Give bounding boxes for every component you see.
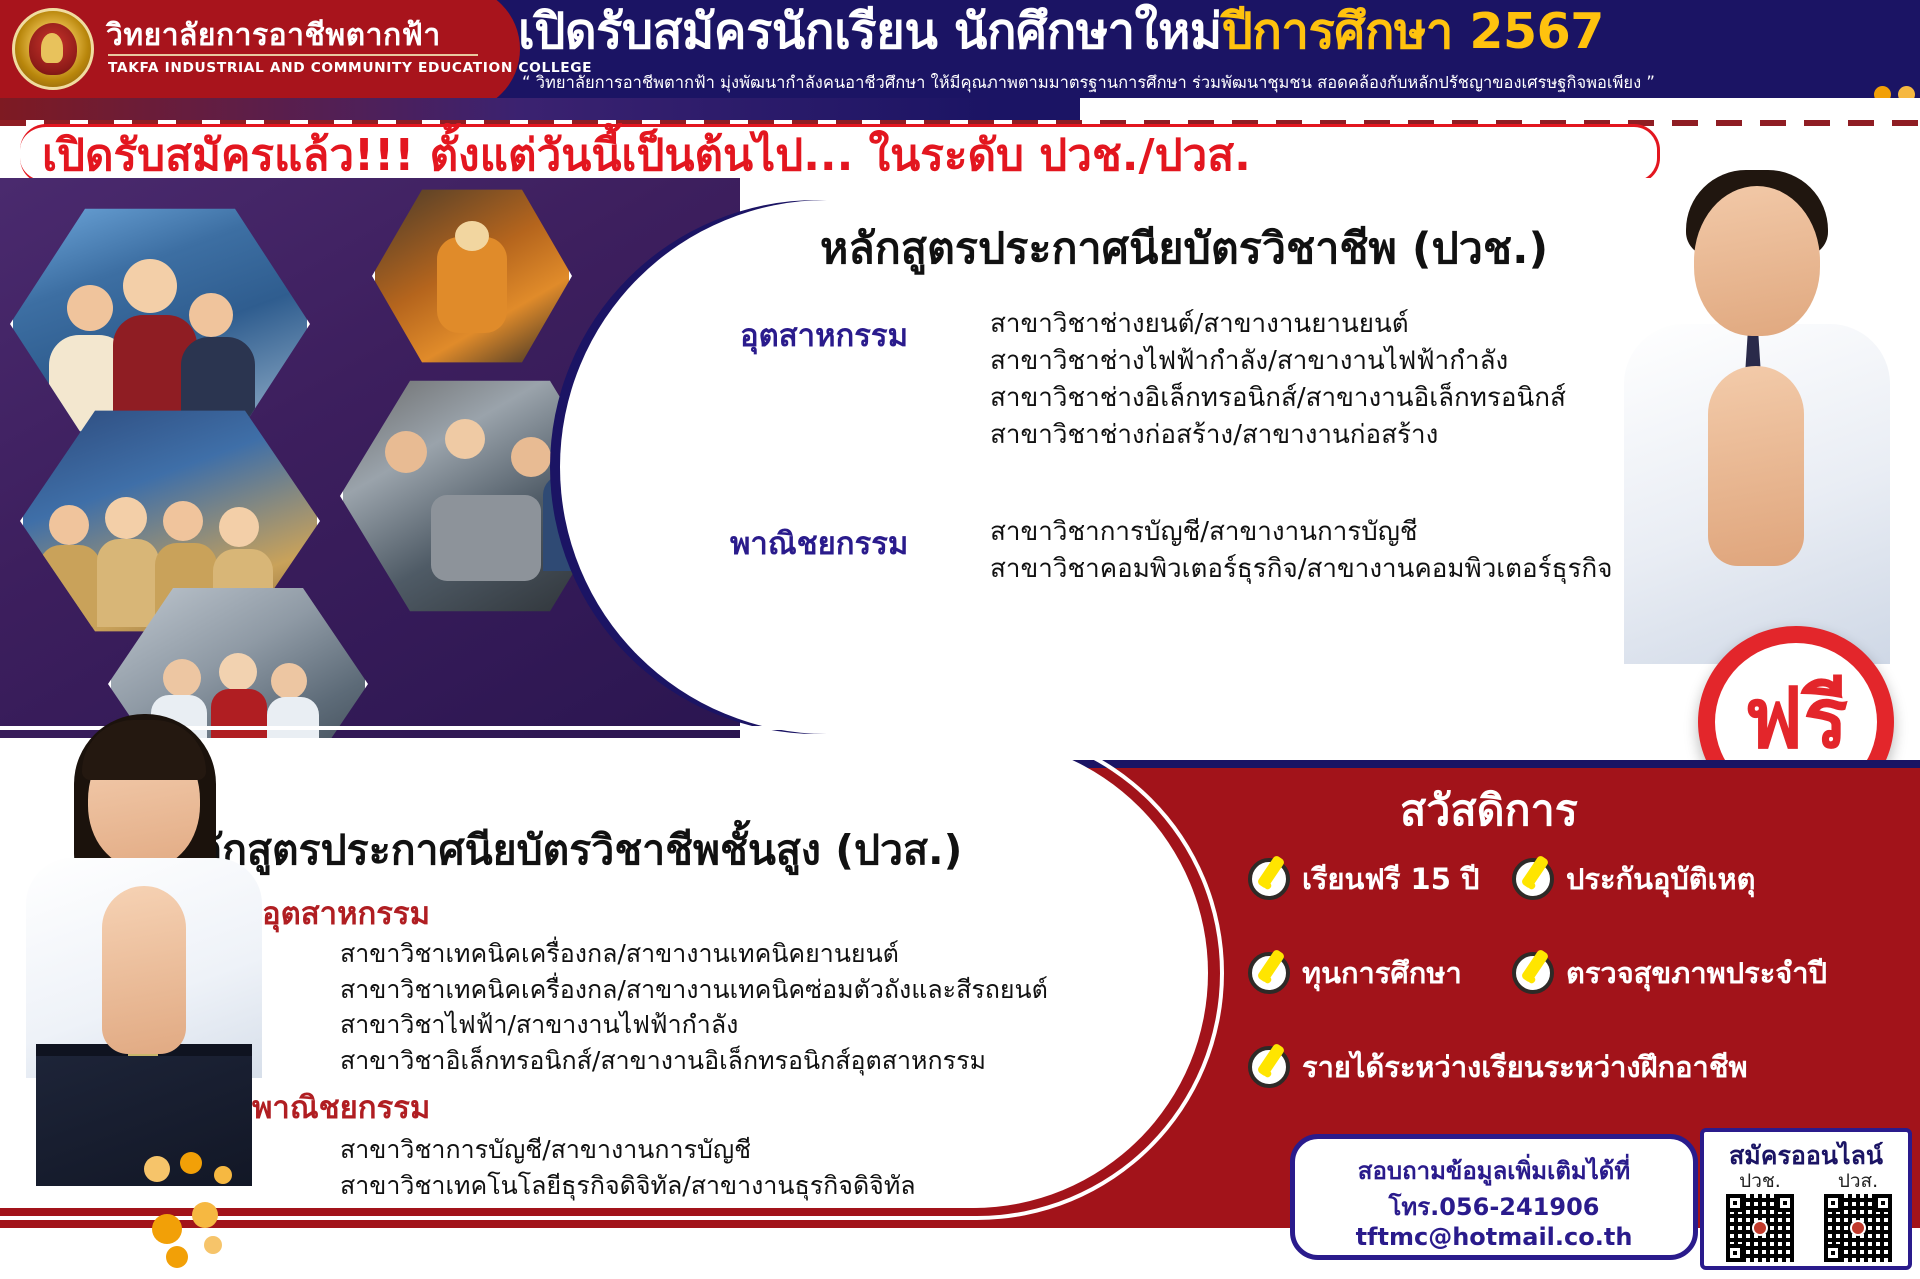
- pvs-program-item: สาขาวิชาการบัญชี/สาขางานการบัญชี: [340, 1132, 916, 1168]
- announcement-gradient-bar: [0, 98, 1080, 120]
- welfare-title: สวัสดิการ: [1400, 776, 1578, 844]
- headline-main: เปิดรับสมัครนักเรียน นักศึกษาใหม่: [518, 3, 1222, 60]
- contact-email[interactable]: tftmc@hotmail.co.th: [1295, 1223, 1693, 1251]
- apply-online-box: สมัครออนไลน์ ปวช. ปวส.: [1700, 1128, 1912, 1270]
- welfare-item: ประกันอุบัติเหตุ: [1512, 856, 1755, 902]
- check-mark-icon: [1248, 858, 1290, 900]
- pvs-title: หลักสูตรประกาศนียบัตรวิชาชีพชั้นสูง (ปวส…: [170, 818, 962, 883]
- check-mark-icon: [1248, 1046, 1290, 1088]
- photo-campus-and-staff: [10, 204, 310, 444]
- pvch-program-item: สาขาวิชาช่างไฟฟ้ากำลัง/สาขางานไฟฟ้ากำลัง: [990, 343, 1566, 380]
- pvch-program-item: สาขาวิชาช่างอิเล็กทรอนิกส์/สาขางานอิเล็ก…: [990, 380, 1566, 417]
- pvs-program-item: สาขาวิชาเทคโนโลยีธุรกิจดิจิทัล/สาขางานธุ…: [340, 1168, 916, 1204]
- pvch-program-item: สาขาวิชาการบัญชี/สาขางานการบัญชี: [990, 514, 1612, 551]
- contact-box: สอบถามข้อมูลเพิ่มเติมได้ที่ โทร.056-2419…: [1290, 1134, 1698, 1260]
- qr-code-icon-pvs[interactable]: [1824, 1194, 1892, 1262]
- pvch-title: หลักสูตรประกาศนียบัตรวิชาชีพ (ปวช.): [820, 214, 1548, 282]
- welfare-item-label: ตรวจสุขภาพประจำปี: [1566, 950, 1827, 996]
- pvs-program-item: สาขาวิชาเทคนิคเครื่องกล/สาขางานเทคนิคยาน…: [340, 936, 1048, 972]
- college-motto: “ วิทยาลัยการอาชีพตากฟ้า มุ่งพัฒนากำลังค…: [522, 70, 1655, 96]
- college-name-en: TAKFA INDUSTRIAL AND COMMUNITY EDUCATION…: [108, 60, 592, 76]
- pvs-program-list-commerce: สาขาวิชาการบัญชี/สาขางานการบัญชี สาขาวิช…: [340, 1132, 916, 1203]
- photo-firefighter-training: [372, 186, 572, 366]
- pvch-program-item: สาขาวิชาช่างยนต์/สาขางานยานยนต์: [990, 306, 1566, 343]
- headline-year: ปีการศึกษา 2567: [1222, 3, 1604, 60]
- welfare-item: เรียนฟรี 15 ปี: [1248, 856, 1479, 902]
- welfare-item: ทุนการศึกษา: [1248, 950, 1462, 996]
- pvs-program-item: สาขาวิชาอิเล็กทรอนิกส์/สาขางานอิเล็กทรอน…: [340, 1043, 1048, 1079]
- welfare-item: ตรวจสุขภาพประจำปี: [1512, 950, 1827, 996]
- pvch-category-label-industry: อุตสาหกรรม: [740, 310, 908, 360]
- pvs-category-label-industry: อุตสาหกรรม: [262, 888, 430, 938]
- pvch-program-list-industry: สาขาวิชาช่างยนต์/สาขางานยานยนต์ สาขาวิชา…: [990, 306, 1566, 454]
- headline: เปิดรับสมัครนักเรียน นักศึกษาใหม่ปีการศึ…: [518, 6, 1604, 57]
- check-mark-icon: [1512, 858, 1554, 900]
- contact-phone[interactable]: โทร.056-241906: [1295, 1187, 1693, 1226]
- welfare-item-label: รายได้ระหว่างเรียนระหว่างฝึกอาชีพ: [1302, 1044, 1748, 1090]
- contact-heading: สอบถามข้อมูลเพิ่มเติมได้ที่: [1295, 1151, 1693, 1190]
- check-mark-icon: [1512, 952, 1554, 994]
- qr-label-pvs: ปวส.: [1814, 1166, 1902, 1196]
- pvch-category-label-commerce: พาณิชยกรรม: [730, 518, 908, 568]
- qr-code-icon-pvch[interactable]: [1726, 1194, 1794, 1262]
- college-name-divider: [108, 54, 478, 56]
- pvch-program-item: สาขาวิชาช่างก่อสร้าง/สาขางานก่อสร้าง: [990, 417, 1566, 454]
- pvs-program-item: สาขาวิชาไฟฟ้า/สาขางานไฟฟ้ากำลัง: [340, 1007, 1048, 1043]
- pvch-program-item: สาขาวิชาคอมพิวเตอร์ธุรกิจ/สาขางานคอมพิวเ…: [990, 551, 1612, 588]
- decorative-dot-cluster-bottom: [140, 1150, 330, 1270]
- college-name-th: วิทยาลัยการอาชีพตากฟ้า: [106, 12, 441, 59]
- pvs-program-item: สาขาวิชาเทคนิคเครื่องกล/สาขางานเทคนิคซ่อ…: [340, 972, 1048, 1008]
- college-seal-icon: [12, 8, 94, 90]
- welfare-item: รายได้ระหว่างเรียนระหว่างฝึกอาชีพ: [1248, 1044, 1748, 1090]
- pvs-program-list-industry: สาขาวิชาเทคนิคเครื่องกล/สาขางานเทคนิคยาน…: [340, 936, 1048, 1078]
- photo-male-student: [1590, 108, 1920, 668]
- check-mark-icon: [1248, 952, 1290, 994]
- welfare-item-label: ทุนการศึกษา: [1302, 950, 1462, 996]
- pvch-program-list-commerce: สาขาวิชาการบัญชี/สาขางานการบัญชี สาขาวิช…: [990, 514, 1612, 588]
- poster-root: วิทยาลัยการอาชีพตากฟ้า TAKFA INDUSTRIAL …: [0, 0, 1920, 1279]
- photo-female-student: [10, 680, 280, 1180]
- pvch-section: หลักสูตรประกาศนียบัตรวิชาชีพ (ปวช.) อุตส…: [0, 178, 1920, 778]
- free-badge-label: ฟรี: [1744, 676, 1849, 760]
- welfare-item-label: เรียนฟรี 15 ปี: [1302, 856, 1479, 902]
- qr-label-pvch: ปวช.: [1716, 1166, 1804, 1196]
- header-bar: วิทยาลัยการอาชีพตากฟ้า TAKFA INDUSTRIAL …: [0, 0, 1920, 98]
- welfare-item-label: ประกันอุบัติเหตุ: [1566, 856, 1755, 902]
